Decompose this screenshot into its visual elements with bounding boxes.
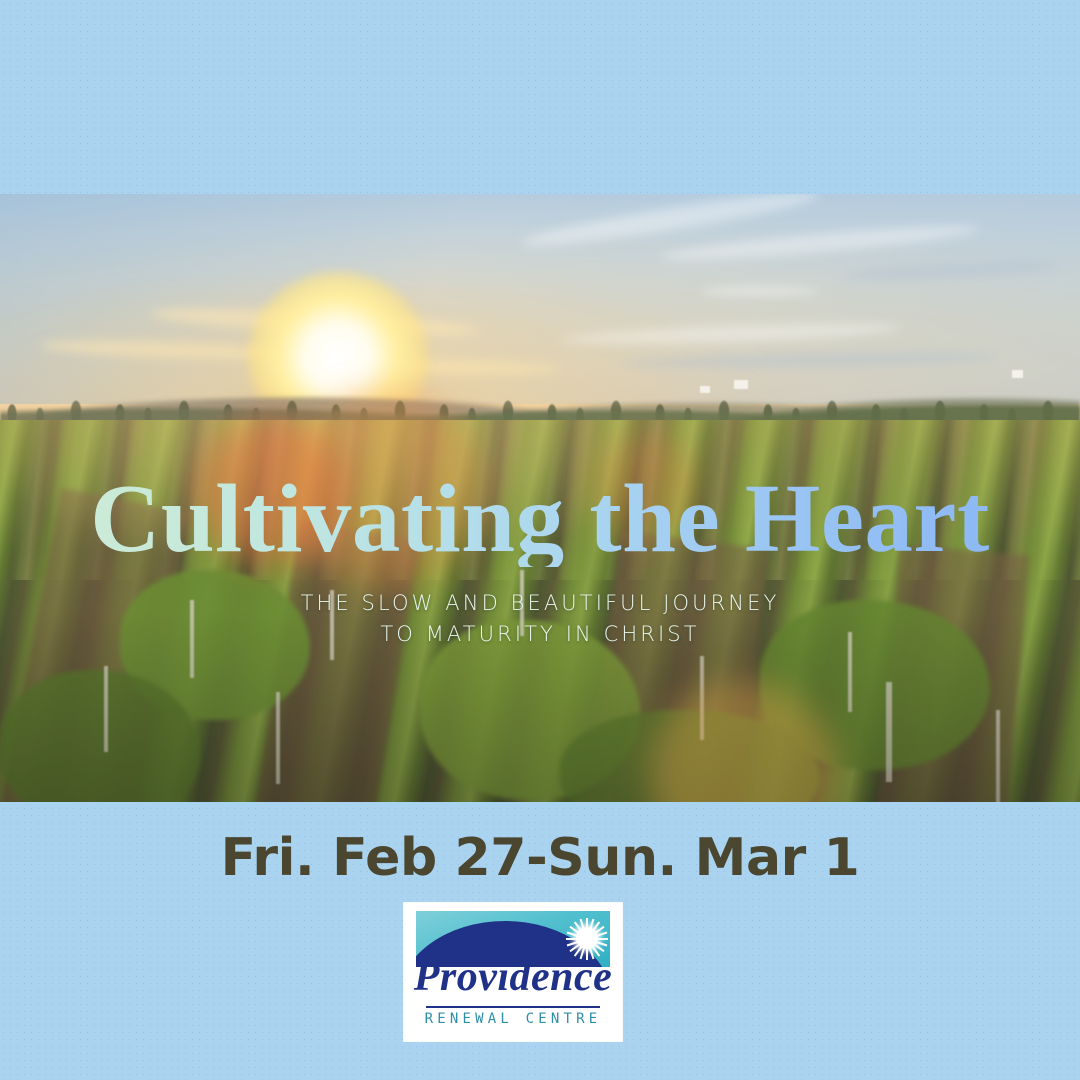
poster-canvas: Cultivating the Heart THE SLOW AND BEAUT…: [0, 0, 1080, 1080]
event-date: Fri. Feb 27-Sun. Mar 1: [0, 828, 1080, 888]
sun-disc-icon: [576, 927, 598, 949]
providence-logo: Providence RENEWAL CENTRE: [404, 903, 622, 1041]
logo-underline: [426, 1006, 600, 1008]
subtitle-line-1: THE SLOW AND BEAUTIFUL JOURNEY: [0, 588, 1080, 619]
logo-tagline: RENEWAL CENTRE: [404, 1011, 622, 1027]
subtitle-line-2: TO MATURITY IN CHRIST: [0, 619, 1080, 650]
logo-wordmark: Providence: [404, 953, 622, 1001]
page-title: Cultivating the Heart: [0, 470, 1080, 567]
village-building: [734, 380, 748, 389]
village-building: [700, 386, 710, 393]
village-building: [1012, 370, 1023, 378]
page-subtitle: THE SLOW AND BEAUTIFUL JOURNEY TO MATURI…: [0, 588, 1080, 650]
